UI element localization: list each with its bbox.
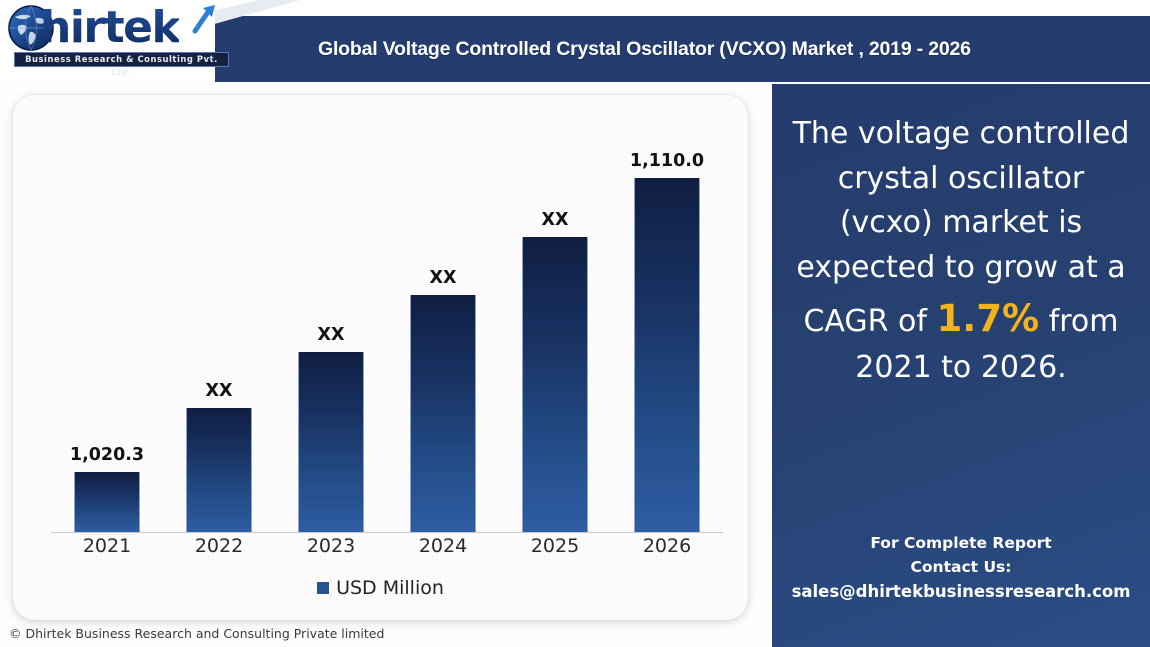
contact-line-2: Contact Us: [772, 556, 1150, 580]
bar-value-label: XX [206, 381, 233, 401]
page-title: Global Voltage Controlled Crystal Oscill… [318, 16, 1138, 82]
bar-2026[interactable] [634, 178, 700, 532]
x-tick-2023: 2023 [275, 535, 387, 557]
x-tick-2022: 2022 [163, 535, 275, 557]
x-tick-2024: 2024 [387, 535, 499, 557]
x-axis-tick-labels: 2021 2022 2023 2024 2025 2026 [39, 535, 729, 567]
x-axis-baseline [51, 532, 723, 533]
bar-value-label: XX [542, 210, 569, 230]
legend-label: USD Million [336, 577, 444, 599]
bar-value-label: 1,110.0 [630, 151, 704, 171]
bar-group-2024[interactable]: XX [387, 113, 499, 532]
header: hirtek Business Research & Consulting Pv… [0, 0, 1150, 84]
chart-legend: USD Million [13, 577, 748, 599]
contact-line-1: For Complete Report [772, 532, 1150, 556]
growth-arrow-icon [192, 4, 218, 34]
bar-group-2025[interactable]: XX [499, 113, 611, 532]
contact-email[interactable]: sales@dhirtekbusinessresearch.com [772, 579, 1150, 604]
bar-value-label: 1,020.3 [70, 445, 144, 465]
x-tick-2026: 2026 [611, 535, 723, 557]
cagr-statement: The voltage controlled crystal oscillato… [786, 112, 1136, 391]
bar-2025[interactable] [522, 237, 588, 532]
bar-group-2026[interactable]: 1,110.0 [611, 113, 723, 532]
bar-2021[interactable] [74, 472, 140, 532]
company-logo[interactable]: hirtek Business Research & Consulting Pv… [6, 2, 246, 76]
bar-value-label: XX [430, 268, 457, 288]
bar-2023[interactable] [298, 352, 364, 532]
copyright-footer: © Dhirtek Business Research and Consulti… [9, 626, 609, 641]
x-tick-2021: 2021 [51, 535, 163, 557]
bar-2022[interactable] [186, 408, 252, 532]
bar-group-2023[interactable]: XX [275, 113, 387, 532]
legend-swatch-icon [317, 582, 329, 594]
summary-panel: The voltage controlled crystal oscillato… [772, 84, 1150, 647]
bar-group-2021[interactable]: 1,020.3 [51, 113, 163, 532]
bar-value-label: XX [318, 325, 345, 345]
contact-block: For Complete Report Contact Us: sales@dh… [772, 532, 1150, 604]
chart-card: 1,020.3 XX XX XX XX 1,110.0 [13, 95, 748, 620]
bar-2024[interactable] [410, 295, 476, 532]
infographic-page: hirtek Business Research & Consulting Pv… [0, 0, 1150, 647]
cagr-value: 1.7% [937, 297, 1040, 340]
logo-wordmark: hirtek [40, 2, 179, 53]
bar-group-2022[interactable]: XX [163, 113, 275, 532]
x-tick-2025: 2025 [499, 535, 611, 557]
logo-tagline: Business Research & Consulting Pvt. Ltd. [14, 52, 229, 67]
bar-chart-plot: 1,020.3 XX XX XX XX 1,110.0 [39, 113, 729, 533]
